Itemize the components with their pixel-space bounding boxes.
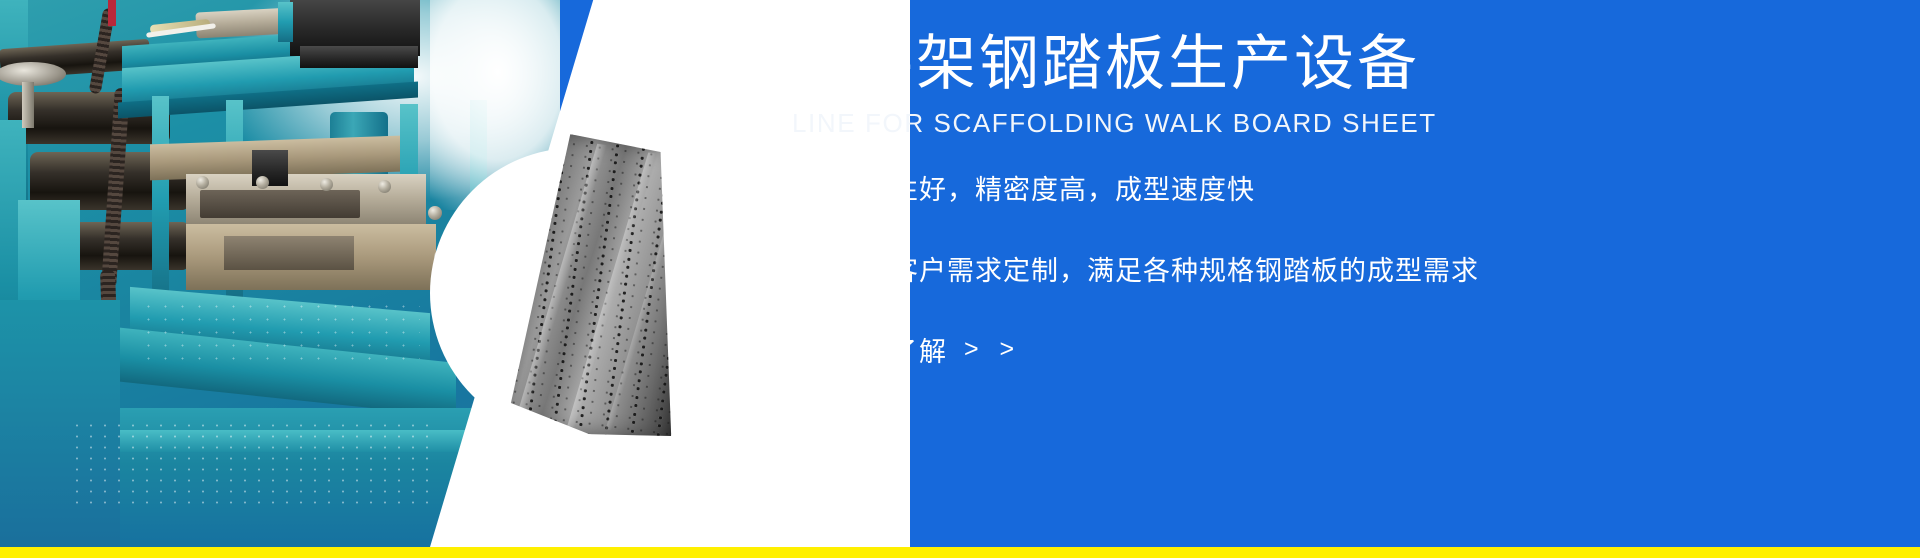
photo-detail [108,0,116,26]
bottom-accent-bar [0,547,1920,558]
photo-detail [70,420,430,510]
checkbox-square-icon [794,259,813,278]
photo-detail [300,46,418,68]
page-title: 脚手架钢踏板生产设备 [790,32,1420,97]
page-subtitle: LINE FOR SCAFFOLDING WALK BOARD SHEET [792,108,1437,139]
feature-text: 稳定性好，精密度高，成型速度快 [835,168,1255,207]
photo-detail [256,176,269,189]
feature-text: 按照客户需求定制，满足各种规格钢踏板的成型需求 [835,249,1479,288]
promo-banner: 脚手架钢踏板生产设备 LINE FOR SCAFFOLDING WALK BOA… [0,0,1920,558]
photo-detail [196,176,209,189]
photo-detail [152,96,169,306]
photo-detail [320,178,333,191]
photo-detail [22,82,34,128]
chevron-right-icon: > > [964,335,1021,364]
feature-list: 稳定性好，精密度高，成型速度快 按照客户需求定制，满足各种规格钢踏板的成型需求 [794,168,1894,330]
photo-detail [278,2,293,42]
cta-label: 点击了解 [832,330,948,369]
banner-content: 脚手架钢踏板生产设备 LINE FOR SCAFFOLDING WALK BOA… [790,0,1920,547]
checkbox-square-icon [794,178,813,197]
photo-detail [378,180,391,193]
cta-link[interactable]: 点击了解 > > [832,330,1021,369]
list-item: 稳定性好，精密度高，成型速度快 [794,168,1894,207]
list-item: 按照客户需求定制，满足各种规格钢踏板的成型需求 [794,249,1894,288]
photo-detail [224,236,354,270]
photo-detail [200,190,360,218]
photo-detail [140,300,420,370]
